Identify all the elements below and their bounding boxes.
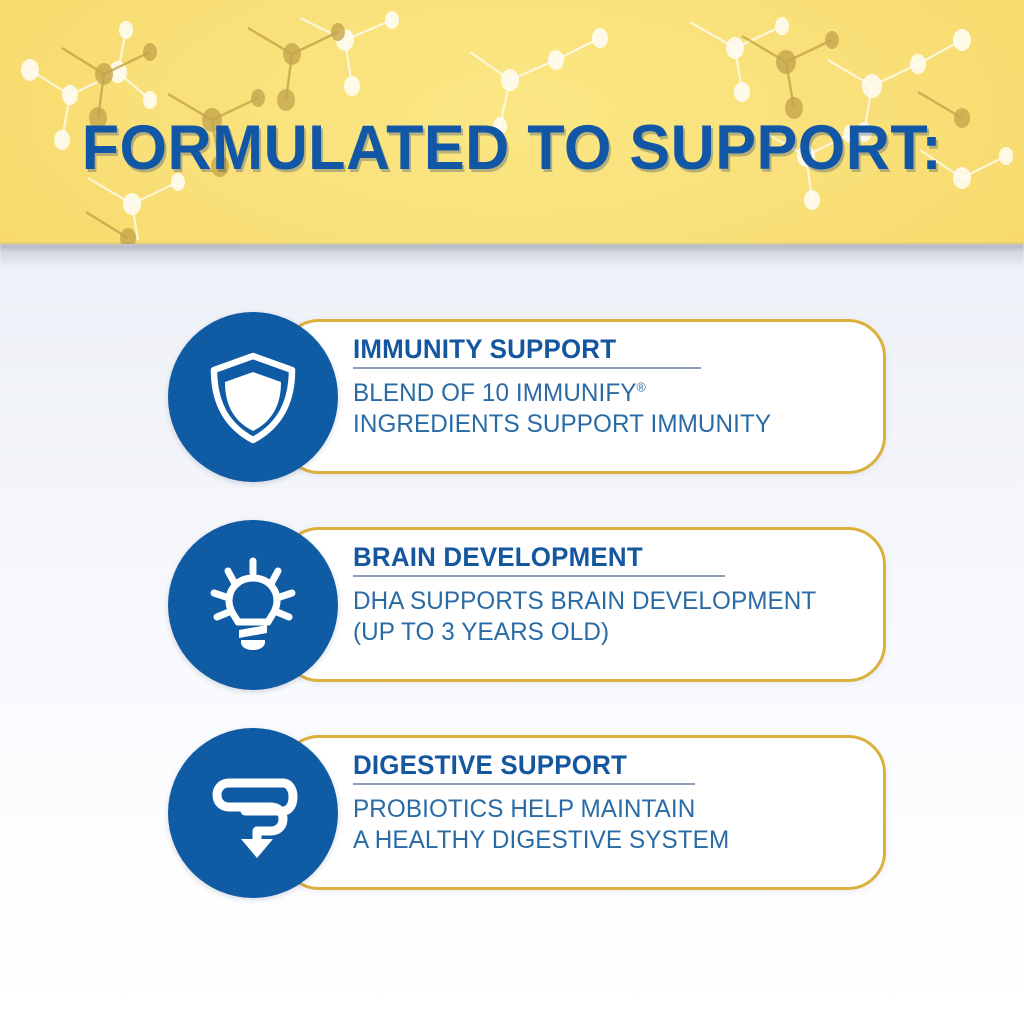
card-body-line-2: (UP TO 3 YEARS OLD) — [353, 617, 857, 648]
benefit-card-brain[interactable]: BRAIN DEVELOPMENT DHA SUPPORTS BRAIN DEV… — [168, 520, 886, 690]
card-body-line-2: A HEALTHY DIGESTIVE SYSTEM — [353, 825, 857, 856]
card-body: BLEND OF 10 IMMUNIFY® INGREDIENTS SUPPOR… — [353, 378, 857, 440]
card-body: PROBIOTICS HELP MAINTAIN A HEALTHY DIGES… — [353, 794, 857, 856]
shield-icon — [168, 312, 338, 482]
card-heading: IMMUNITY SUPPORT — [353, 334, 852, 364]
card-body-line-1: PROBIOTICS HELP MAINTAIN — [353, 794, 857, 825]
intestine-icon — [168, 728, 338, 898]
card-heading-rule — [353, 367, 701, 369]
card-body: DHA SUPPORTS BRAIN DEVELOPMENT (UP TO 3 … — [353, 586, 857, 648]
card-heading: DIGESTIVE SUPPORT — [353, 750, 852, 780]
benefit-card-list: IMMUNITY SUPPORT BLEND OF 10 IMMUNIFY® I… — [0, 0, 1024, 1024]
card-text-block: BRAIN DEVELOPMENT DHA SUPPORTS BRAIN DEV… — [353, 542, 873, 648]
card-body-line-2: INGREDIENTS SUPPORT IMMUNITY — [353, 409, 857, 440]
benefit-card-digestive[interactable]: DIGESTIVE SUPPORT PROBIOTICS HELP MAINTA… — [168, 728, 886, 898]
card-text-block: IMMUNITY SUPPORT BLEND OF 10 IMMUNIFY® I… — [353, 334, 873, 440]
benefit-card-immunity[interactable]: IMMUNITY SUPPORT BLEND OF 10 IMMUNIFY® I… — [168, 312, 886, 482]
card-body-line-1: DHA SUPPORTS BRAIN DEVELOPMENT — [353, 586, 857, 617]
card-heading-rule — [353, 575, 725, 577]
card-text-block: DIGESTIVE SUPPORT PROBIOTICS HELP MAINTA… — [353, 750, 873, 856]
lightbulb-icon — [168, 520, 338, 690]
card-heading-rule — [353, 783, 695, 785]
registered-trademark-symbol: ® — [637, 380, 646, 395]
product-benefits-infographic: FORMULATED TO SUPPORT: IMMUNITY SUPPORT … — [0, 0, 1024, 1024]
card-heading: BRAIN DEVELOPMENT — [353, 542, 852, 572]
card-body-line-1: BLEND OF 10 IMMUNIFY — [353, 379, 637, 407]
